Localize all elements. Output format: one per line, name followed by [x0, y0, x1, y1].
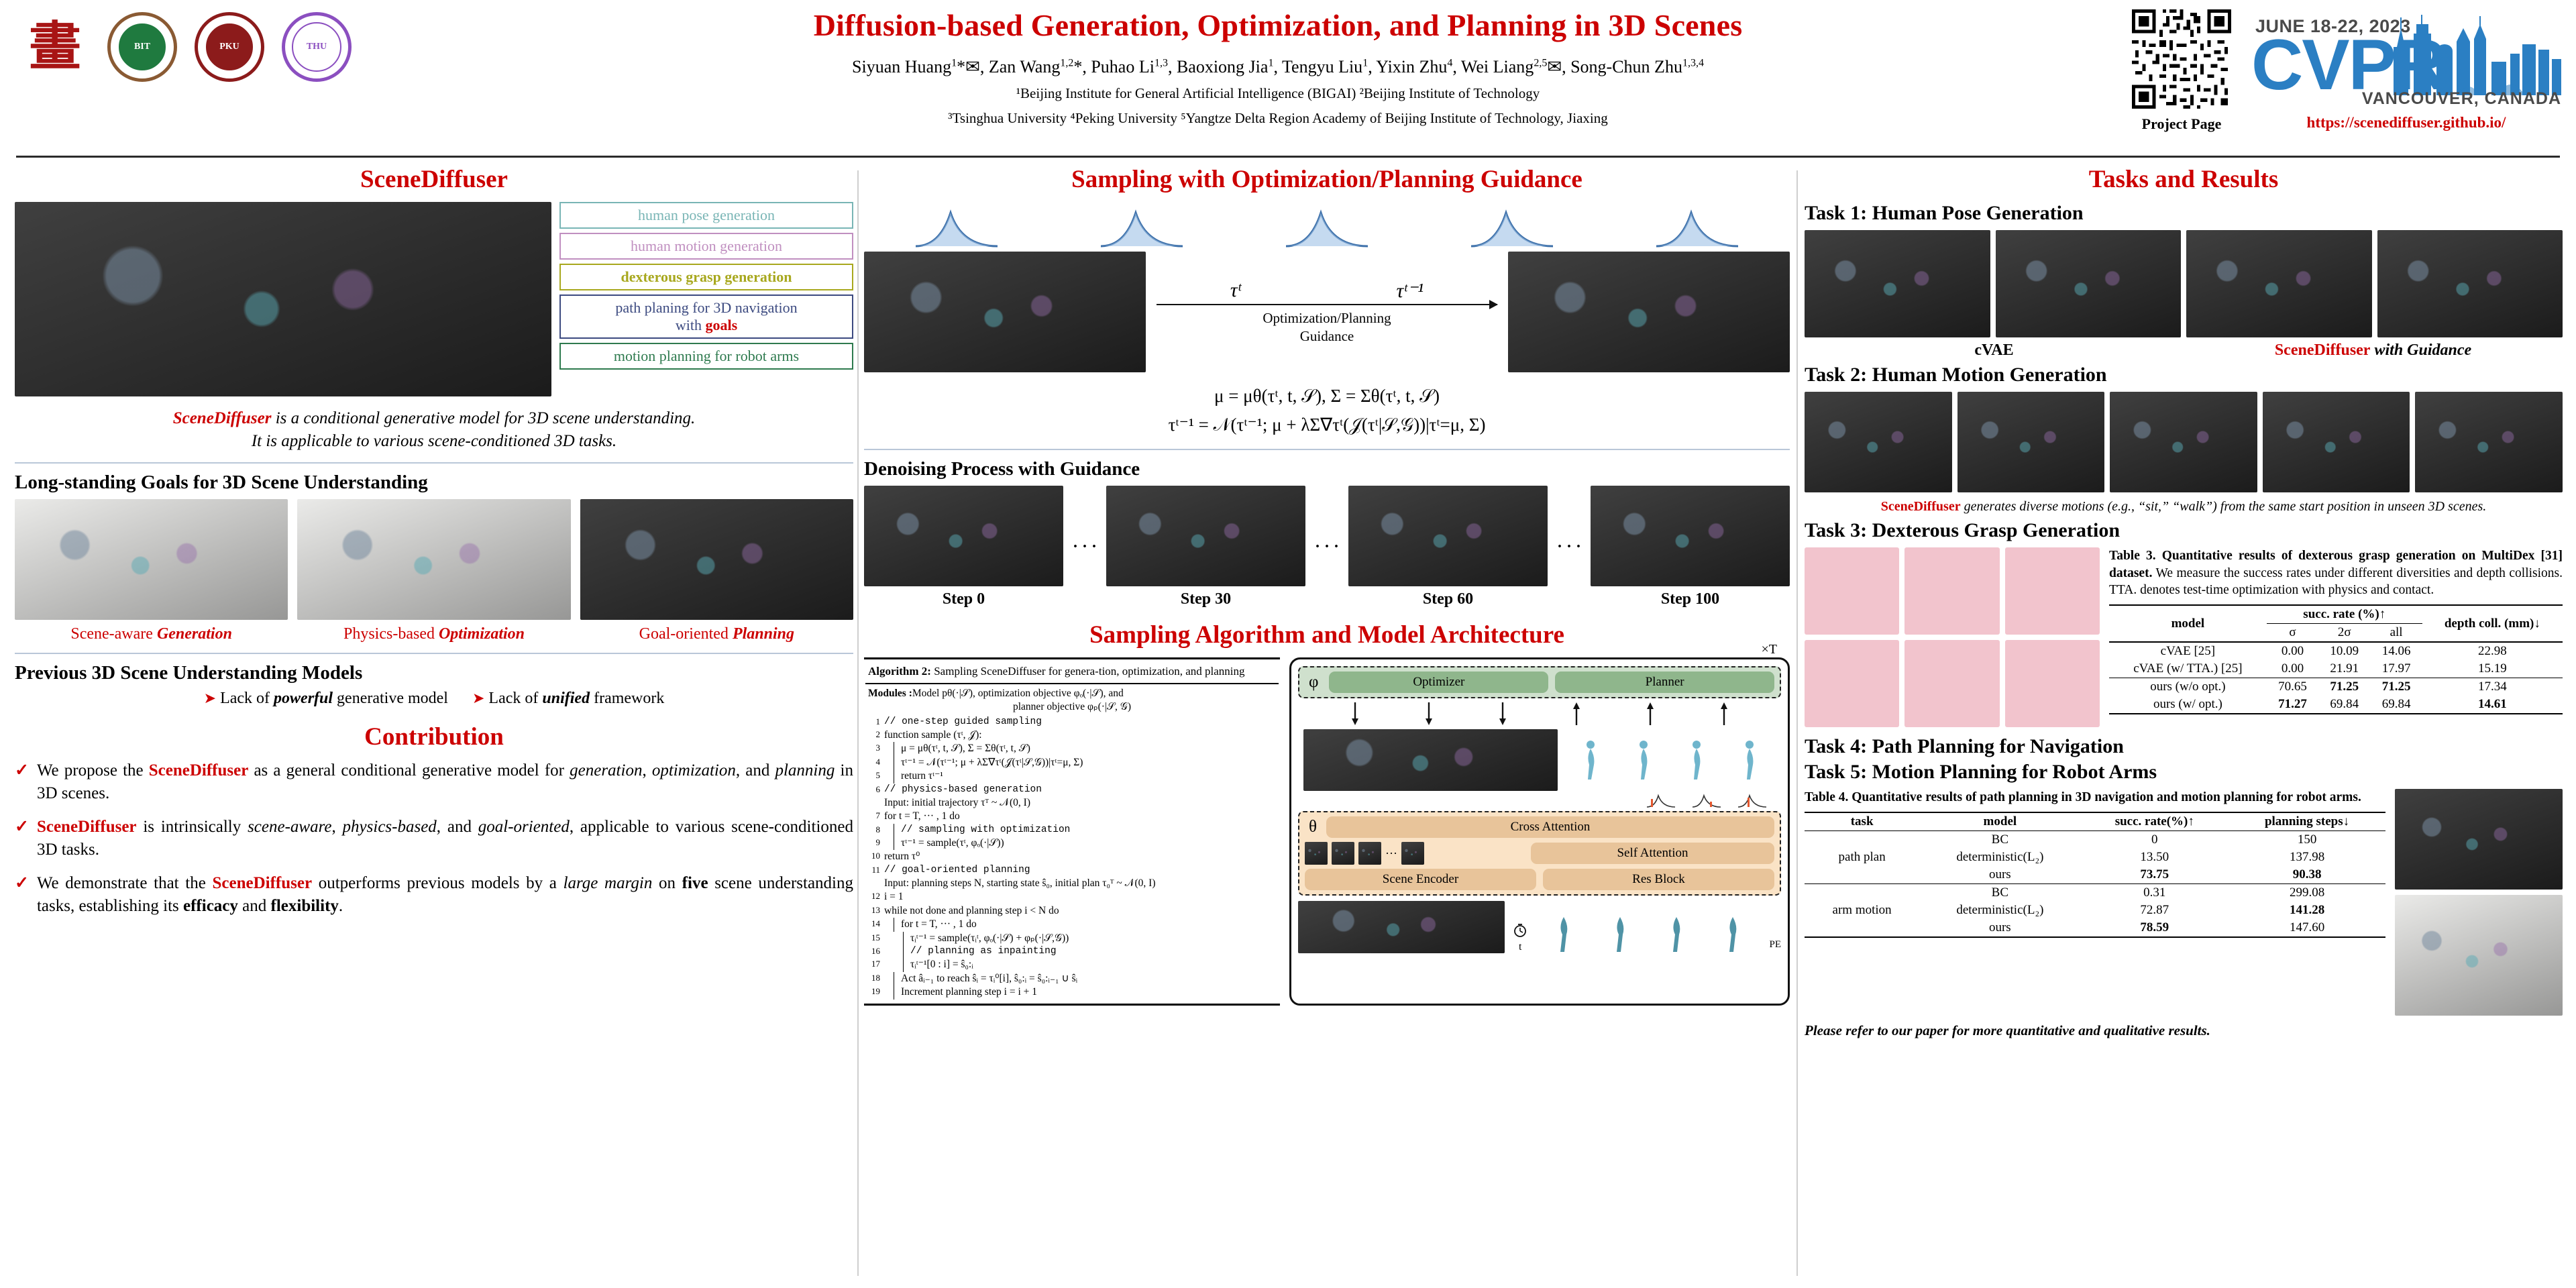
algorithm-line-text: return τ⁰ — [884, 850, 1279, 863]
task3-title: Task 3: Dexterous Grasp Generation — [1805, 519, 2563, 542]
res-block: Res Block — [1543, 869, 1774, 890]
section-title-algorithm: Sampling Algorithm and Model Architectur… — [864, 621, 1790, 649]
algorithm-line: 1// one-step guided sampling — [865, 716, 1279, 729]
table4-caption: Table 4. Quantitative results of path pl… — [1805, 789, 2385, 806]
table-cell-model: ours (w/ opt.) — [2109, 696, 2267, 714]
qr-code-icon[interactable] — [2132, 9, 2231, 109]
algorithm-line-text: // one-step guided sampling — [884, 716, 1279, 729]
arrow-down-icon-2 — [1424, 702, 1434, 725]
algorithm-line: 2function sample (τᵗ, 𝒥): — [865, 729, 1279, 742]
noisy-human-icon-1 — [1556, 916, 1572, 953]
table4-col-steps: planning steps↓ — [2229, 812, 2385, 831]
table-cell-steps: 299.08 — [2229, 883, 2385, 902]
legend-motion-planning: motion planning for robot arms — [559, 343, 853, 370]
denoise-step-100-image — [1591, 486, 1790, 586]
affiliation-line-2: ³Tsinghua University ⁴Peking University … — [470, 109, 2086, 128]
denoise-step-100: Step 100 — [1591, 486, 1790, 608]
goals-row: Scene-aware Generation Physics-based Opt… — [15, 499, 853, 643]
table-cell-all: 17.97 — [2370, 660, 2422, 678]
table-cell-task: arm motion — [1805, 902, 1919, 919]
planner-block: Planner — [1555, 672, 1774, 693]
author-list: Siyuan Huang1*✉, Zan Wang1,2*, Puhao Li1… — [470, 55, 2086, 78]
table-cell-steps: 147.60 — [2229, 919, 2385, 937]
cvpr-city: VANCOUVER, CANADA — [2362, 89, 2561, 109]
algorithm-line-number: 9 — [867, 837, 880, 850]
section-title-tasks: Tasks and Results — [1805, 165, 2563, 194]
bit-seal-inner: BIT — [117, 22, 167, 72]
task1-title: Task 1: Human Pose Generation — [1805, 202, 2563, 225]
table3: model succ. rate (%)↑ depth coll. (mm)↓ … — [2109, 604, 2563, 714]
timestep-input: t — [1513, 923, 1527, 953]
algorithm-line-text: while not done and planning step i < N d… — [884, 904, 1279, 918]
algorithm-title: Sampling SceneDiffuser for genera-tion, … — [931, 665, 1245, 678]
scene-patch-2 — [1332, 842, 1354, 865]
goal-optimization: Physics-based Optimization — [297, 499, 570, 643]
prev-bullet-1-em: powerful — [274, 690, 333, 707]
project-page-label: Project Page — [2132, 115, 2231, 133]
arch-scene-and-poses — [1298, 729, 1781, 791]
table-cell-succ: 78.59 — [2080, 919, 2229, 937]
table-cell-succ: 73.75 — [2080, 866, 2229, 884]
algorithm-line-text: // physics-based generation — [884, 784, 1279, 796]
clock-icon — [1513, 923, 1527, 938]
table3-col-depth: depth coll. (mm)↓ — [2422, 605, 2563, 642]
algorithm-line-number: 11 — [867, 864, 880, 877]
step-dots-1: · · · — [1071, 538, 1098, 556]
check-icon: ✓ — [15, 759, 29, 805]
task2-image-2 — [1957, 392, 2105, 492]
algorithm-line-text: Act âᵢ₋₁ to reach ŝᵢ = τᵢ⁰[i], ŝ₀:ᵢ = ŝ₀… — [894, 972, 1279, 985]
task2-images — [1805, 392, 2563, 492]
table3-subcol-2sigma: 2σ — [2318, 624, 2370, 643]
algorithm-line-text: // goal-oriented planning — [884, 864, 1279, 877]
table-cell-model: deterministic(L₂) — [1919, 849, 2080, 866]
cvpr-branding: JUNE 18-22, 2023 CVPR — [2249, 9, 2564, 131]
teaser-row: human pose generation human motion gener… — [15, 202, 853, 396]
contribution-text-1: We propose the SceneDiffuser as a genera… — [37, 759, 853, 805]
scene-patch-4 — [1401, 842, 1424, 865]
poster-header: 畫 BIT PKU THU Diffusion-based Generation… — [0, 0, 2576, 168]
timestep-label: t — [1513, 941, 1527, 953]
legend-path-planning: path planing for 3D navigation with goal… — [559, 294, 853, 339]
task3-content: Table 3. Quantitative results of dextero… — [1805, 547, 2563, 727]
algorithm-line-number: 1 — [867, 716, 880, 729]
table-cell-depth: 17.34 — [2422, 678, 2563, 696]
table-row: cVAE (w/ TTA.) [25]0.0021.9117.9715.19 — [2109, 660, 2563, 678]
task5-title: Task 5: Motion Planning for Robot Arms — [1805, 761, 2563, 784]
caption-rest-1: is a conditional generative model for 3D… — [271, 409, 695, 427]
noise-gaussian-icon-3 — [1737, 792, 1768, 808]
algorithm-line: 7for t = T, ··· , 1 do — [865, 810, 1279, 823]
contribution-text-2: SceneDiffuser is intrinsically scene-awa… — [37, 816, 853, 861]
arrow-up-icon-2 — [1646, 702, 1655, 725]
formulas-block: μ = μθ(τᵗ, t, 𝒮), Σ = Σθ(τᵗ, t, 𝒮) τᵗ⁻¹ … — [864, 382, 1790, 439]
scene-encoder-block: Scene Encoder — [1305, 869, 1536, 890]
contribution-text-3: We demonstrate that the SceneDiffuser ou… — [37, 872, 853, 918]
gaussian-curve-icon-1 — [913, 206, 1000, 249]
table3-block: Table 3. Quantitative results of dextero… — [2109, 547, 2563, 714]
scene-encoder-res-row: Scene Encoder Res Block — [1305, 869, 1774, 890]
table-cell-depth: 14.61 — [2422, 696, 2563, 714]
step-dots-3: · · · — [1556, 538, 1582, 556]
arrow-down-icon-3 — [1498, 702, 1507, 725]
algorithm-line-number: 4 — [867, 756, 880, 769]
prev-bullet-1: ➤Lack of powerful generative model — [204, 690, 448, 708]
table-row: BC0.31299.08 — [1805, 883, 2385, 902]
grasp-image-2 — [1904, 547, 1999, 635]
algorithm-line-text: function sample (τᵗ, 𝒥): — [884, 729, 1279, 742]
table-cell-succ: 0 — [2080, 830, 2229, 849]
noisy-human-icon-4 — [1725, 916, 1741, 953]
algorithm-line-text: μ = μθ(τᵗ, t, 𝒮), Σ = Σθ(τᵗ, t, 𝒮) — [894, 742, 1279, 755]
table-cell-all: 14.06 — [2370, 642, 2422, 660]
goal-optimization-plain: Physics-based — [343, 625, 439, 643]
contribution-item-1: ✓ We propose the SceneDiffuser as a gene… — [15, 759, 853, 805]
arrow-up-icon-3 — [1719, 702, 1729, 725]
scene-patch-1 — [1305, 842, 1328, 865]
table4-col-task: task — [1805, 812, 1919, 831]
contribution-item-2: ✓ SceneDiffuser is intrinsically scene-a… — [15, 816, 853, 861]
denoising-title: Denoising Process with Guidance — [864, 458, 1790, 480]
table-cell-model: deterministic(L₂) — [1919, 902, 2080, 919]
table-cell-all: 69.84 — [2370, 696, 2422, 714]
table-cell-succ: 13.50 — [2080, 849, 2229, 866]
algorithm-line: 15τᵢᵗ⁻¹ = sample(τᵢᵗ, φₒ(·|𝒮) + φₚ(·|𝒮,𝒢… — [865, 932, 1279, 945]
goal-generation: Scene-aware Generation — [15, 499, 288, 643]
algorithm-line-text: τᵢᵗ⁻¹[0 : i] = ŝ₀:ᵢ — [903, 958, 1279, 971]
goal-optimization-em: Optimization — [439, 625, 525, 643]
task1-images — [1805, 230, 2563, 337]
algorithm-line-number: 8 — [867, 824, 880, 837]
table-cell-two_sigma: 69.84 — [2318, 696, 2370, 714]
table-cell-succ: 0.31 — [2080, 883, 2229, 902]
architecture-diagram: ×T φ Optimizer Planner — [1289, 657, 1790, 1005]
grasp-row-2 — [1805, 640, 2100, 727]
table4-header-row: task model succ. rate(%)↑ planning steps… — [1805, 812, 2385, 831]
table4: task model succ. rate(%)↑ planning steps… — [1805, 812, 2385, 938]
scene-before-guidance — [864, 252, 1146, 372]
table-cell-two_sigma: 21.91 — [2318, 660, 2370, 678]
table4-block: Table 4. Quantitative results of path pl… — [1805, 789, 2385, 938]
previous-models-bullets: ➤Lack of powerful generative model ➤Lack… — [15, 690, 853, 708]
legend-human-pose: human pose generation — [559, 202, 853, 229]
arch-scene-image-top — [1303, 729, 1558, 791]
task1-label-brand: SceneDiffuser — [2275, 341, 2371, 359]
gaussian-curve-icon-5 — [1654, 206, 1741, 249]
denoise-step-0: Step 0 — [864, 486, 1063, 608]
institution-logos: 畫 BIT PKU THU — [20, 12, 352, 82]
noise-gaussian-icon-1 — [1646, 792, 1676, 808]
algorithm-line: 3μ = μθ(τᵗ, t, 𝒮), Σ = Σθ(τᵗ, t, 𝒮) — [865, 742, 1279, 755]
grasp-image-1 — [1805, 547, 1899, 635]
table-cell-model: ours — [1919, 866, 2080, 884]
algorithm-line: 19Increment planning step i = i + 1 — [865, 985, 1279, 999]
algorithm-line-text: return τᵗ⁻¹ — [894, 769, 1279, 783]
table4-col-succ: succ. rate(%)↑ — [2080, 812, 2229, 831]
arch-pose-sequence — [1564, 739, 1776, 781]
gaussian-curve-icon-3 — [1283, 206, 1371, 249]
table-cell-model: ours (w/o opt.) — [2109, 678, 2267, 696]
table3-caption-num: Table 3. — [2109, 549, 2162, 563]
algorithm-line: 9τᵗ⁻¹ = sample(τᵗ, φₒ(·|𝒮)) — [865, 837, 1279, 850]
algorithm-line-number: 18 — [867, 972, 880, 985]
step-dots-2: · · · — [1313, 538, 1340, 556]
algorithm-line-text: Input: initial trajectory τᵀ ~ 𝒩(0, I) — [884, 796, 1279, 810]
peking-logo: PKU — [195, 12, 264, 82]
table3-group-succrate: succ. rate (%)↑ — [2267, 605, 2422, 624]
left-divider-1 — [15, 462, 853, 464]
table-cell-two_sigma: 10.09 — [2318, 642, 2370, 660]
task2-title: Task 2: Human Motion Generation — [1805, 364, 2563, 386]
algorithm-line: 10return τ⁰ — [865, 850, 1279, 863]
phi-symbol: φ — [1305, 673, 1322, 692]
guidance-band: φ Optimizer Planner — [1298, 666, 1781, 698]
caption-rest-2: It is applicable to various scene-condit… — [252, 432, 616, 450]
table3-head: model succ. rate (%)↑ depth coll. (mm)↓ … — [2109, 605, 2563, 642]
table-cell-two_sigma: 71.25 — [2318, 678, 2370, 696]
algorithm-line-text: Increment planning step i = i + 1 — [894, 985, 1279, 999]
modules-text-1: Model pθ(·|𝒮), optimization objective φₒ… — [912, 688, 1124, 699]
legend-path-planning-goals: goals — [705, 317, 737, 333]
goals-title: Long-standing Goals for 3D Scene Underst… — [15, 472, 853, 494]
algorithm-line-number: 19 — [867, 985, 880, 999]
table-cell-steps: 90.38 — [2229, 866, 2385, 884]
prev-bullet-2: ➤Lack of unified framework — [472, 690, 664, 708]
path-planning-image — [2395, 789, 2563, 890]
task2-caption-brand: SceneDiffuser — [1881, 499, 1961, 514]
arch-inputs-row: t PE — [1298, 896, 1781, 953]
task2-image-5 — [2415, 392, 2563, 492]
algorithm-line: 16// planning as inpainting — [865, 945, 1279, 958]
legend-human-motion: human motion generation — [559, 233, 853, 260]
table-row: ours (w/ opt.)71.2769.8469.8414.61 — [2109, 696, 2563, 714]
table-cell-steps: 150 — [2229, 830, 2385, 849]
section-title-scenediffuser: SceneDiffuser — [15, 165, 853, 194]
noise-curves-row — [1298, 791, 1781, 811]
left-divider-2 — [15, 653, 853, 654]
algorithm-line-text: τᵗ⁻¹ = 𝒩(τᵗ⁻¹; μ + λΣ∇τᵗ(𝒥(τᵗ|𝒮,𝒢))|τᵗ=μ… — [894, 756, 1279, 769]
noisy-human-icon-3 — [1668, 916, 1684, 953]
project-qr-block[interactable]: Project Page — [2132, 9, 2231, 133]
table3-caption: Table 3. Quantitative results of dextero… — [2109, 547, 2563, 599]
algorithm-line: 4τᵗ⁻¹ = 𝒩(τᵗ⁻¹; μ + λΣ∇τᵗ(𝒥(τᵗ|𝒮,𝒢))|τᵗ=… — [865, 756, 1279, 769]
previous-models-title: Previous 3D Scene Understanding Models — [15, 662, 853, 684]
algorithm-header: Algorithm 2: Sampling SceneDiffuser for … — [865, 662, 1279, 684]
guidance-caption: Optimization/Planning Guidance — [1152, 309, 1501, 345]
goal-planning: Goal-oriented Planning — [580, 499, 853, 643]
guidance-caption-line-1: Optimization/Planning — [1263, 310, 1391, 326]
table3-header-row-1: model succ. rate (%)↑ depth coll. (mm)↓ — [2109, 605, 2563, 624]
guidance-transition-row: τᵗ τᵗ⁻¹ Optimization/Planning Guidance — [864, 252, 1790, 372]
algorithm-line-number — [867, 877, 880, 890]
bit-seal-icon: BIT — [107, 12, 177, 82]
goal-planning-plain: Goal-oriented — [639, 625, 733, 643]
gaussian-curve-icon-4 — [1468, 206, 1556, 249]
algorithm-number: Algorithm 2: — [868, 665, 931, 678]
prev-bullet-2-pre: Lack of — [488, 690, 542, 707]
table-cell-depth: 15.19 — [2422, 660, 2563, 678]
denoise-step-60-image — [1348, 486, 1548, 586]
header-right-block: Project Page JUNE 18-22, 2023 CVPR — [2132, 9, 2564, 133]
task-legend: human pose generation human motion gener… — [559, 202, 853, 374]
algorithm-line-text: // planning as inpainting — [903, 945, 1279, 958]
section-title-contribution: Contribution — [15, 722, 853, 751]
algorithm-line: 6// physics-based generation — [865, 784, 1279, 796]
grasp-image-6 — [2005, 640, 2100, 727]
algorithm-line: 11// goal-oriented planning — [865, 864, 1279, 877]
goal-optimization-image — [297, 499, 570, 620]
goal-planning-em: Planning — [733, 625, 794, 643]
table4-col-model: model — [1919, 812, 2080, 831]
algorithm-box: Algorithm 2: Sampling SceneDiffuser for … — [864, 657, 1280, 1005]
table3-caption-rest: We measure the success rates under diffe… — [2109, 566, 2563, 598]
modules-text-2: planner objective φₚ(·|𝒮, 𝒢) — [868, 700, 1276, 714]
denoise-step-60: Step 60 — [1348, 486, 1548, 608]
self-attention-block: Self Attention — [1531, 843, 1774, 864]
goal-planning-label: Goal-oriented Planning — [580, 625, 853, 643]
bit-logo: BIT — [107, 12, 177, 82]
caption-brand: SceneDiffuser — [173, 409, 272, 427]
grasp-image-5 — [1904, 640, 1999, 727]
algorithm-line: Input: planning steps N, starting state … — [865, 877, 1279, 890]
table-cell-steps: 137.98 — [2229, 849, 2385, 866]
table-cell-model: BC — [1919, 830, 2080, 849]
robot-arm-image — [2395, 895, 2563, 1016]
algorithm-line-number: 5 — [867, 769, 880, 783]
algorithm-line: 13while not done and planning step i < N… — [865, 904, 1279, 918]
table3-subcol-sigma: σ — [2267, 624, 2318, 643]
guidance-caption-line-2: Guidance — [1300, 328, 1354, 344]
grasp-image-3 — [2005, 547, 2100, 635]
check-icon-3: ✓ — [15, 872, 29, 918]
encoder-attention-row: ··· Self Attention — [1305, 842, 1774, 865]
contribution-item-3: ✓ We demonstrate that the SceneDiffuser … — [15, 872, 853, 918]
human-figure-icon-3 — [1688, 739, 1705, 781]
tau-labels: τᵗ τᵗ⁻¹ — [1152, 279, 1501, 303]
arrow-bullet-icon: ➤ — [204, 690, 216, 706]
formula-tau-update: τᵗ⁻¹ = 𝒩(τᵗ⁻¹; μ + λΣ∇τᵗ(𝒥(τᵗ|𝒮,𝒢))|τᵗ=μ… — [864, 411, 1790, 439]
table-cell-all: 71.25 — [2370, 678, 2422, 696]
table-cell-task: path plan — [1805, 849, 1919, 866]
tsinghua-logo: THU — [282, 12, 352, 82]
algorithm-line: 5return τᵗ⁻¹ — [865, 769, 1279, 783]
task1-label-cvae: cVAE — [1805, 341, 2184, 360]
cvpr-logo: JUNE 18-22, 2023 CVPR — [2249, 9, 2564, 110]
project-url-link[interactable]: https://scenediffuser.github.io/ — [2249, 114, 2564, 131]
scene-after-guidance — [1508, 252, 1790, 372]
header-divider — [16, 156, 2560, 158]
tau-t-minus-1-label: τᵗ⁻¹ — [1396, 279, 1424, 303]
algorithm-line: 8// sampling with optimization — [865, 824, 1279, 837]
algorithm-line: 14for t = T, ··· , 1 do — [865, 918, 1279, 931]
table3-col-model: model — [2109, 605, 2267, 642]
task45-content: Table 4. Quantitative results of path pl… — [1805, 789, 2563, 1016]
table-cell-model: ours — [1919, 919, 2080, 937]
algorithm-line-number — [867, 796, 880, 810]
check-icon-2: ✓ — [15, 816, 29, 861]
algorithm-line-number: 17 — [867, 958, 880, 971]
final-note: Please refer to our paper for more quant… — [1805, 1022, 2563, 1039]
column-divider-1 — [857, 170, 859, 1276]
denoiser-band: θ Cross Attention ··· Self Atten — [1298, 811, 1781, 896]
noisy-human-icon-2 — [1612, 916, 1628, 953]
table-cell-succ: 72.87 — [2080, 902, 2229, 919]
task1-image-4 — [2377, 230, 2563, 337]
algorithm-line-number: 13 — [867, 904, 880, 918]
arrow-bullet-icon-2: ➤ — [472, 690, 484, 706]
teaser-scene-image — [15, 202, 551, 396]
table-row: arm motiondeterministic(L₂)72.87141.28 — [1805, 902, 2385, 919]
task2-image-3 — [2110, 392, 2257, 492]
column-divider-2 — [1796, 170, 1798, 1276]
goal-optimization-label: Physics-based Optimization — [297, 625, 570, 643]
algorithm-line-number: 6 — [867, 784, 880, 796]
columns-container: SceneDiffuser human pose generation huma… — [0, 165, 2576, 1288]
noise-gaussian-icon-2 — [1691, 792, 1722, 808]
theta-symbol: θ — [1305, 818, 1321, 837]
task1-image-1 — [1805, 230, 1990, 337]
denoise-step-30-image — [1106, 486, 1305, 586]
vancouver-skyline-icon — [2383, 12, 2564, 98]
peking-seal-icon: PKU — [195, 12, 264, 82]
denoise-step-30-label: Step 30 — [1106, 590, 1305, 608]
algorithm-line-number: 15 — [867, 932, 880, 945]
algorithm-line: 12i = 1 — [865, 890, 1279, 904]
prev-bullet-1-pre: Lack of — [220, 690, 274, 707]
algorithm-line-number: 3 — [867, 742, 880, 755]
denoise-step-60-label: Step 60 — [1348, 590, 1548, 608]
poster-root: 畫 BIT PKU THU Diffusion-based Generation… — [0, 0, 2576, 1288]
task1-image-3 — [2186, 230, 2372, 337]
scene-patches-row: ··· — [1305, 842, 1524, 865]
architecture-repeat-label: ×T — [1762, 642, 1778, 657]
guidance-arrow-icon — [1157, 304, 1497, 305]
affiliation-line-1: ¹Beijing Institute for General Artificia… — [470, 84, 2086, 103]
patch-dots: ··· — [1385, 847, 1397, 861]
denoise-step-30: Step 30 — [1106, 486, 1305, 608]
task3-grasp-gallery — [1805, 547, 2100, 727]
task2-image-1 — [1805, 392, 1952, 492]
prev-bullet-1-post: generative model — [333, 690, 448, 707]
algorithm-lines: 1// one-step guided sampling2function sa… — [865, 716, 1279, 1000]
arrow-down-icon-1 — [1350, 702, 1360, 725]
bigai-logo: 畫 — [20, 12, 90, 82]
modules-label: Modules : — [868, 688, 912, 699]
tau-t-label: τᵗ — [1230, 279, 1241, 303]
denoise-step-0-label: Step 0 — [864, 590, 1063, 608]
algorithm-line-number: 12 — [867, 890, 880, 904]
algorithm-line-number: 16 — [867, 945, 880, 958]
grasp-row-1 — [1805, 547, 2100, 635]
guidance-arrow-block: τᵗ τᵗ⁻¹ Optimization/Planning Guidance — [1152, 279, 1501, 345]
task1-labels: cVAE SceneDiffuser with Guidance — [1805, 341, 2563, 360]
table-row: ours78.59147.60 — [1805, 919, 2385, 937]
task2-caption-rest: generates diverse motions (e.g., “sit,” … — [1961, 499, 2487, 514]
qr-code-svg — [2132, 9, 2231, 109]
gaussian-curves-row — [864, 202, 1790, 249]
table-row: path plandeterministic(L₂)13.50137.98 — [1805, 849, 2385, 866]
goal-generation-label: Scene-aware Generation — [15, 625, 288, 643]
algorithm-line: 18Act âᵢ₋₁ to reach ŝᵢ = τᵢ⁰[i], ŝ₀:ᵢ = … — [865, 972, 1279, 985]
table-cell-task-blank — [1805, 830, 1919, 849]
goal-planning-image — [580, 499, 853, 620]
formula-mu-sigma: μ = μθ(τᵗ, t, 𝒮), Σ = Σθ(τᵗ, t, 𝒮) — [864, 382, 1790, 411]
human-figure-icon-1 — [1582, 739, 1599, 781]
task4-title: Task 4: Path Planning for Navigation — [1805, 735, 2563, 758]
middle-divider-1 — [864, 449, 1790, 450]
scenediffuser-caption: SceneDiffuser is a conditional generativ… — [15, 407, 853, 453]
algorithm-line-text: for t = T, ··· , 1 do — [884, 810, 1279, 823]
